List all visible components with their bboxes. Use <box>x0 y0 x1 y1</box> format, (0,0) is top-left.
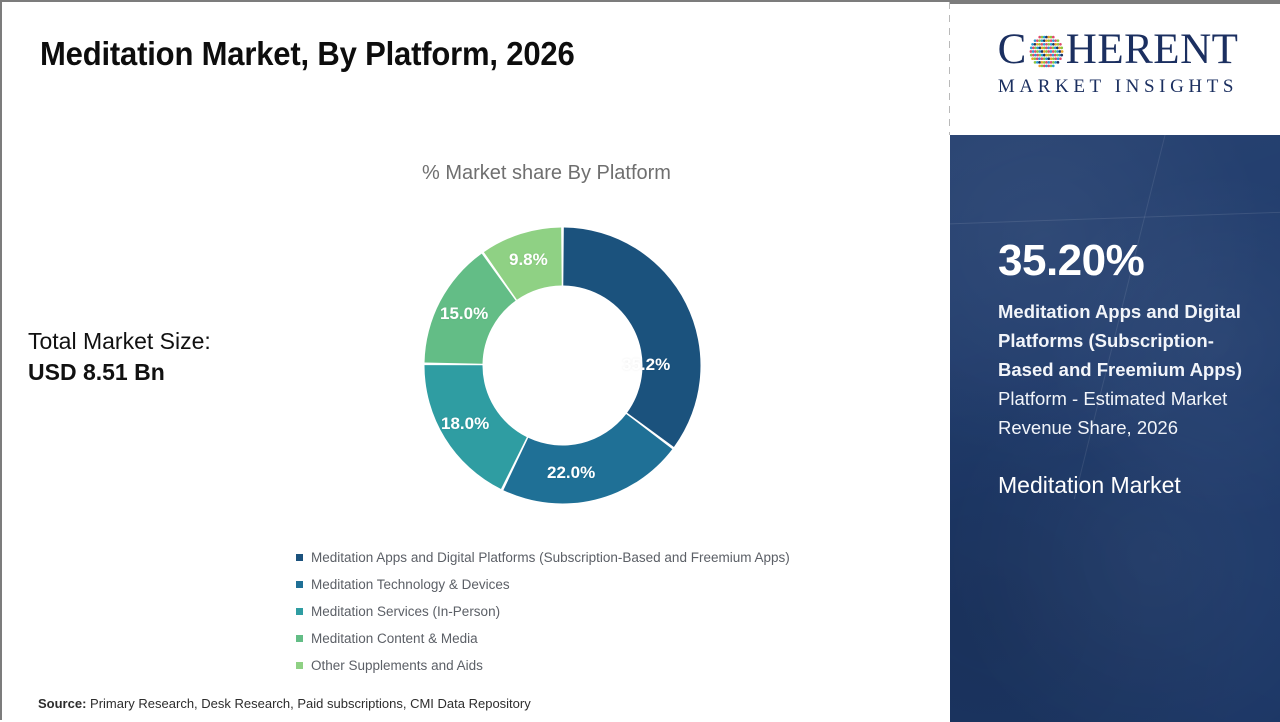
stat-description-bold: Meditation Apps and Digital Platforms (S… <box>998 301 1242 380</box>
stat-description-rest: Platform - Estimated Market Revenue Shar… <box>998 388 1227 438</box>
legend-label-3: Meditation Content & Media <box>311 631 478 646</box>
logo-letters-herent: HERENT <box>1066 28 1239 71</box>
legend-label-0: Meditation Apps and Digital Platforms (S… <box>311 550 790 565</box>
legend-item[interactable]: Meditation Services (In-Person) <box>296 598 790 625</box>
slice-label-1: 22.0% <box>547 463 595 483</box>
logo-inner: C HERENT MARKET INSIGHTS <box>968 28 1268 98</box>
source-note: Source: Primary Research, Desk Research,… <box>38 696 531 711</box>
legend-item[interactable]: Meditation Content & Media <box>296 625 790 652</box>
source-text: Primary Research, Desk Research, Paid su… <box>86 696 530 711</box>
chart-subtitle: % Market share By Platform <box>422 162 671 185</box>
logo-subtitle: MARKET INSIGHTS <box>968 76 1268 98</box>
market-name: Meditation Market <box>998 468 1260 502</box>
stat-value: 35.20% <box>998 239 1260 283</box>
legend-label-2: Meditation Services (In-Person) <box>311 604 500 619</box>
source-label: Source: <box>38 696 86 711</box>
donut-chart: 35.2% 22.0% 18.0% 15.0% 9.8% <box>424 227 701 504</box>
legend-item[interactable]: Meditation Technology & Devices <box>296 571 790 598</box>
stat-content: 35.20% Meditation Apps and Digital Platf… <box>998 239 1260 502</box>
dotted-globe-icon <box>1028 33 1065 70</box>
page-title: Meditation Market, By Platform, 2026 <box>40 35 575 73</box>
legend-swatch-0 <box>296 554 303 561</box>
total-market-size: Total Market Size: USD 8.51 Bn <box>28 326 211 388</box>
legend-swatch-2 <box>296 608 303 615</box>
logo-wordmark: C HERENT <box>968 28 1268 71</box>
legend-swatch-4 <box>296 662 303 669</box>
logo-letter-c: C <box>998 28 1027 71</box>
legend-item[interactable]: Meditation Apps and Digital Platforms (S… <box>296 544 790 571</box>
right-rail: C HERENT MARKET INSIGHTS 35.20% Meditati… <box>950 2 1280 722</box>
donut-slice-0[interactable] <box>563 228 700 447</box>
donut-slice-1[interactable] <box>503 414 672 504</box>
brand-logo[interactable]: C HERENT MARKET INSIGHTS <box>950 2 1280 135</box>
chart-panel: Meditation Market, By Platform, 2026 % M… <box>2 2 950 722</box>
slice-label-0: 35.2% <box>622 355 670 375</box>
slice-label-4: 9.8% <box>509 250 548 270</box>
legend-label-1: Meditation Technology & Devices <box>311 577 510 592</box>
total-market-value: USD 8.51 Bn <box>28 357 211 388</box>
chart-legend: Meditation Apps and Digital Platforms (S… <box>296 544 790 679</box>
legend-label-4: Other Supplements and Aids <box>311 658 483 673</box>
slice-label-2: 18.0% <box>441 414 489 434</box>
legend-item[interactable]: Other Supplements and Aids <box>296 652 790 679</box>
slice-label-3: 15.0% <box>440 304 488 324</box>
stat-description: Meditation Apps and Digital Platforms (S… <box>998 297 1260 442</box>
total-market-label: Total Market Size: <box>28 328 211 354</box>
legend-swatch-3 <box>296 635 303 642</box>
legend-swatch-1 <box>296 581 303 588</box>
infographic-page: Meditation Market, By Platform, 2026 % M… <box>0 0 1280 720</box>
highlight-stat-panel: 35.20% Meditation Apps and Digital Platf… <box>950 135 1280 722</box>
